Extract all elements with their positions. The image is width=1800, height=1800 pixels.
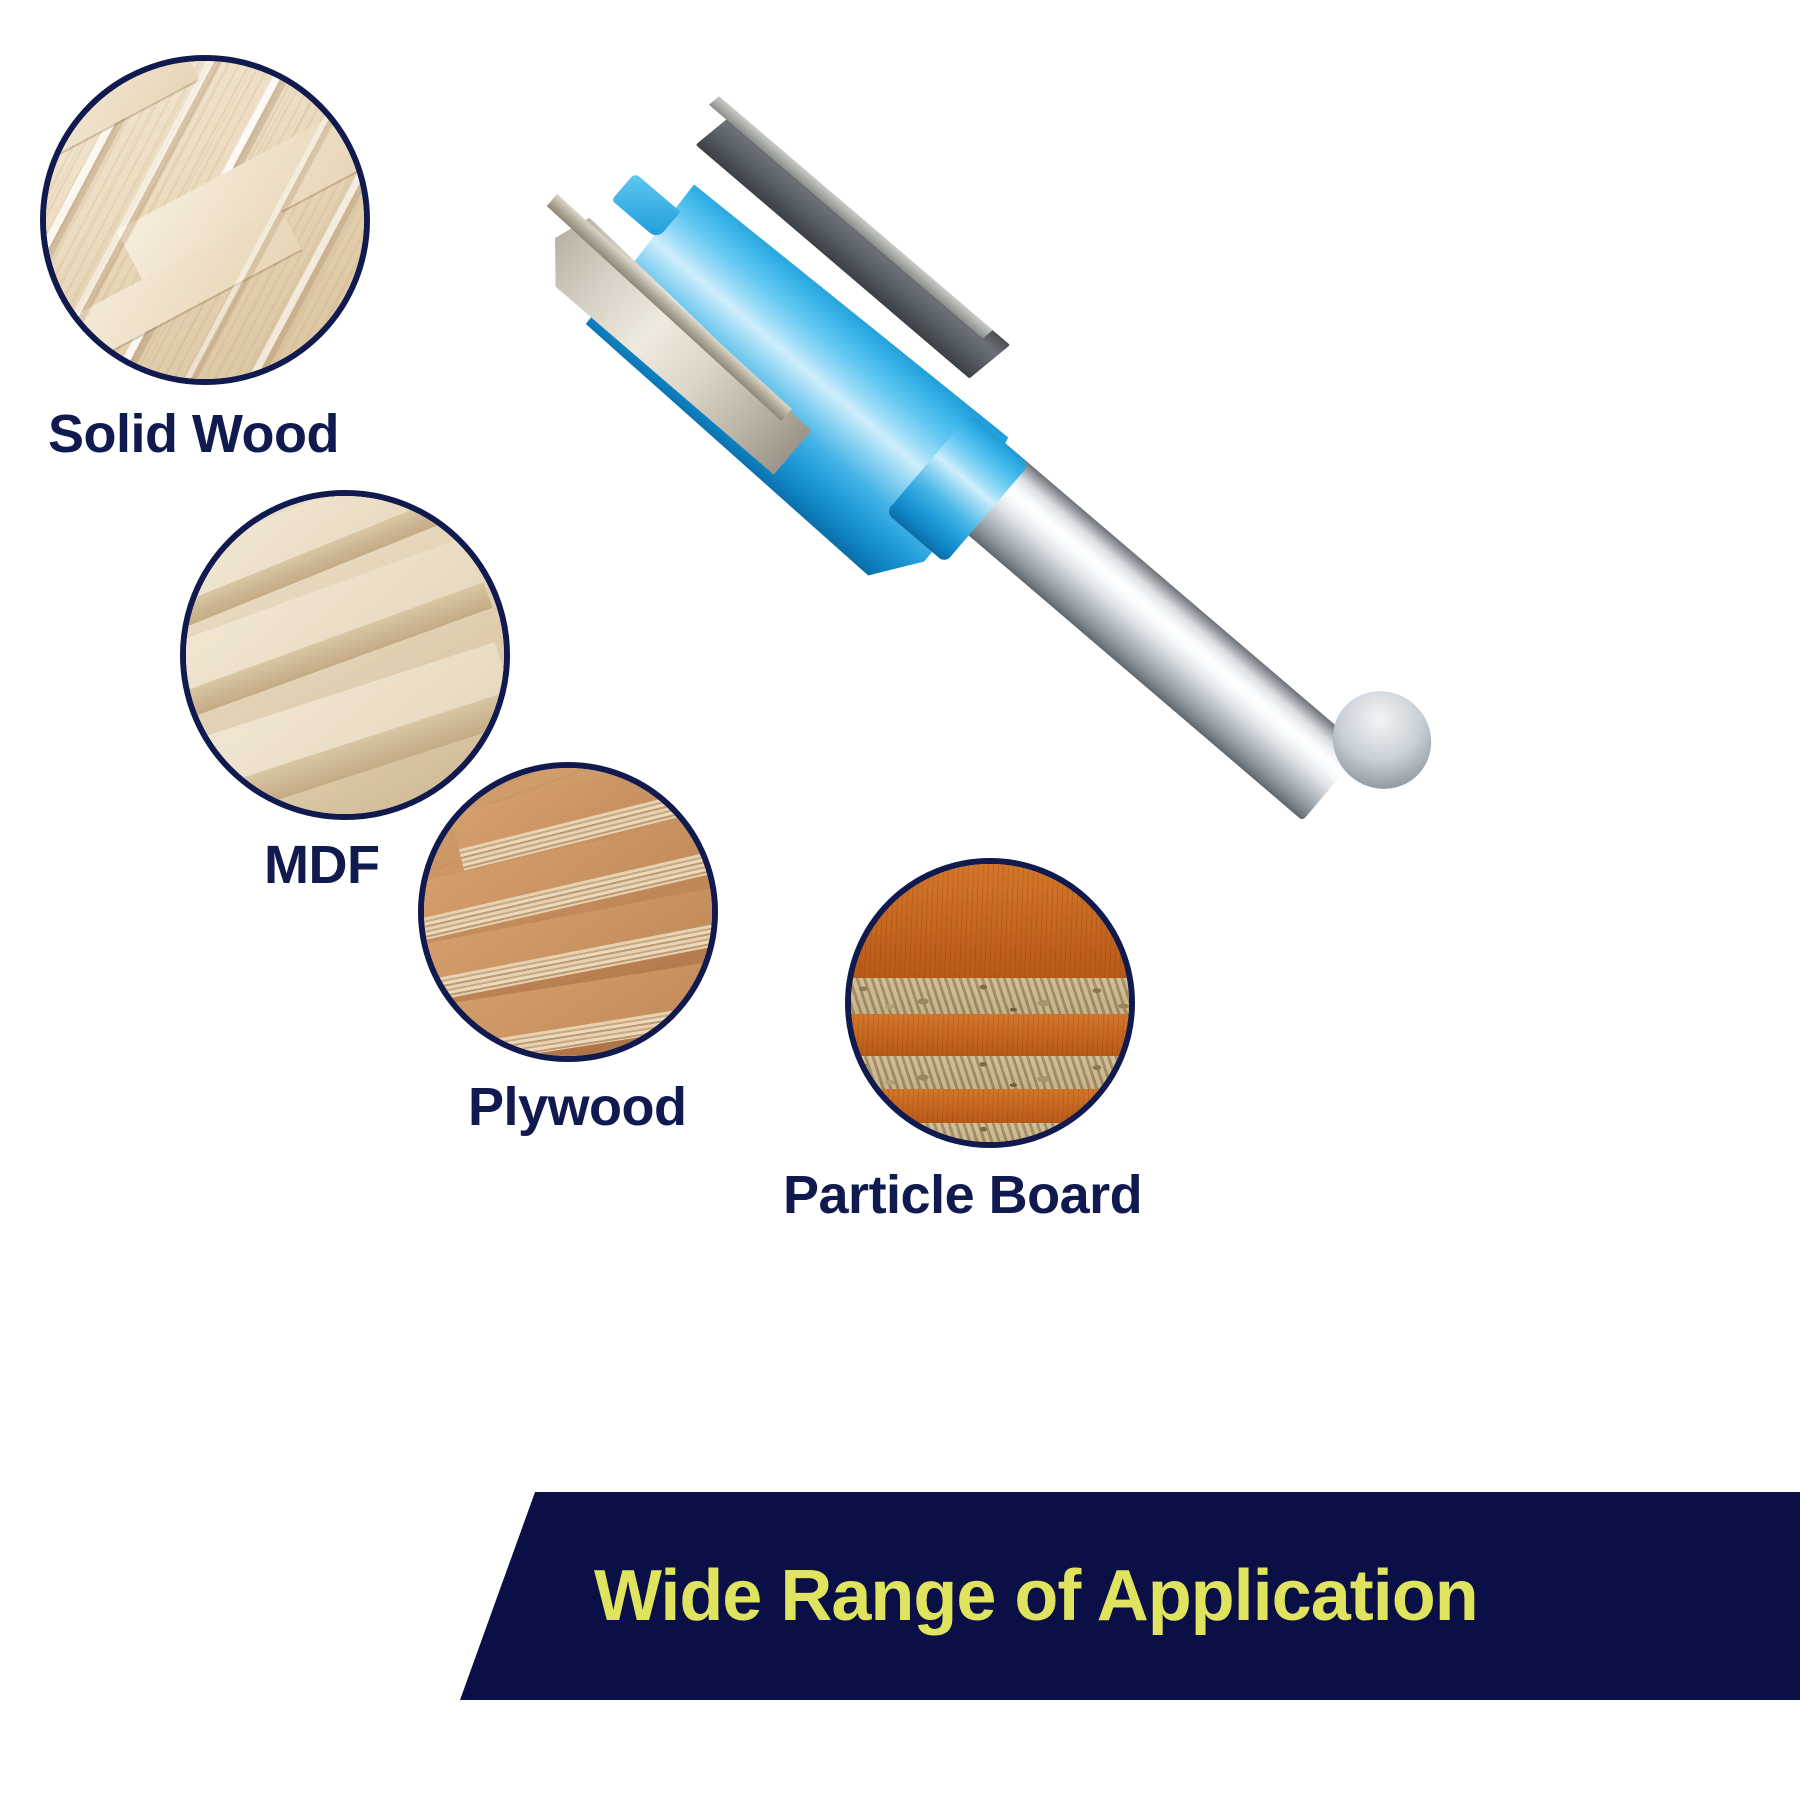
infographic-canvas: Solid Wood MDF bbox=[0, 0, 1800, 1800]
router-bit-photo bbox=[520, 80, 1520, 870]
material-badge-plywood: Plywood bbox=[418, 762, 818, 1162]
router-bit-shank-end bbox=[1313, 671, 1451, 809]
solid-wood-photo bbox=[46, 61, 364, 379]
material-badge-solid-wood: Solid Wood bbox=[40, 55, 440, 475]
headline-text: Wide Range of Application bbox=[594, 1560, 1478, 1632]
plywood-photo bbox=[424, 768, 712, 1056]
plywood-circle bbox=[418, 762, 718, 1062]
material-label-particle-board: Particle Board bbox=[783, 1168, 1142, 1222]
material-label-mdf: MDF bbox=[264, 838, 379, 892]
headline-banner: Wide Range of Application bbox=[460, 1492, 1800, 1700]
material-label-plywood: Plywood bbox=[468, 1080, 687, 1134]
material-badge-particle-board: Particle Board bbox=[845, 858, 1305, 1258]
solid-wood-circle bbox=[40, 55, 370, 385]
material-label-solid-wood: Solid Wood bbox=[48, 407, 339, 461]
particle-board-photo bbox=[851, 864, 1129, 1142]
particle-board-circle bbox=[845, 858, 1135, 1148]
